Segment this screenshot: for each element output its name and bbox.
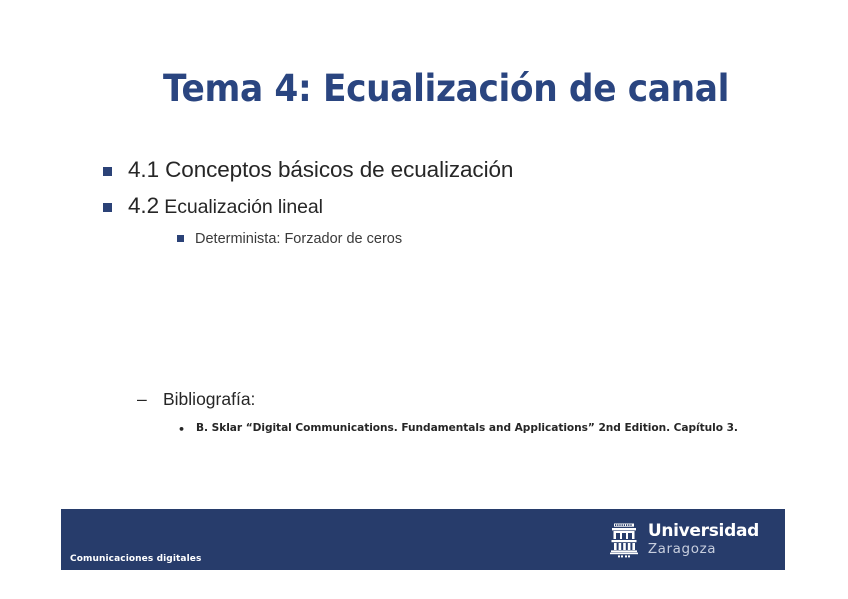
university-wordmark: Universidad Zaragoza	[648, 523, 759, 557]
bullet-list: 4.1 Conceptos básicos de ecualización 4.…	[0, 156, 848, 249]
bibliography-heading: – Bibliografía:	[0, 388, 848, 411]
bibliography-heading-label: Bibliografía:	[163, 389, 255, 409]
square-bullet-icon	[103, 203, 112, 212]
square-bullet-icon	[177, 235, 184, 242]
bibliography-entry-text: B. Sklar “Digital Communications. Fundam…	[196, 422, 738, 434]
square-bullet-icon	[103, 167, 112, 176]
university-name-line1: Universidad	[648, 523, 759, 540]
dash-bullet-icon: –	[137, 388, 147, 411]
bullet-text: Conceptos básicos de ecualización	[159, 157, 513, 182]
sub-bullet-text: Determinista: Forzador de ceros	[195, 231, 402, 247]
page-title: Tema 4: Ecualización de canal	[163, 68, 729, 111]
bullet-number: 4.1	[128, 157, 159, 182]
bullet-text: Ecualización lineal	[159, 196, 323, 218]
slide-canvas: Tema 4: Ecualización de canal 4.1 Concep…	[0, 0, 848, 599]
university-logo: Universidad Zaragoza	[609, 518, 759, 562]
university-building-emblem-icon	[609, 522, 639, 558]
list-item: 4.1 Conceptos básicos de ecualización	[0, 156, 848, 184]
footer-bar: Comunicaciones digitales	[61, 509, 785, 570]
bibliography-section: – Bibliografía: • B. Sklar “Digital Comm…	[0, 388, 848, 436]
round-bullet-icon: •	[178, 422, 185, 438]
course-label: Comunicaciones digitales	[70, 554, 201, 564]
university-name-line2: Zaragoza	[648, 543, 759, 557]
bibliography-entry: • B. Sklar “Digital Communications. Fund…	[0, 421, 848, 436]
sub-list-item: Determinista: Forzador de ceros	[0, 229, 848, 249]
list-item: 4.2 Ecualización lineal	[0, 192, 848, 220]
bullet-number: 4.2	[128, 193, 159, 218]
